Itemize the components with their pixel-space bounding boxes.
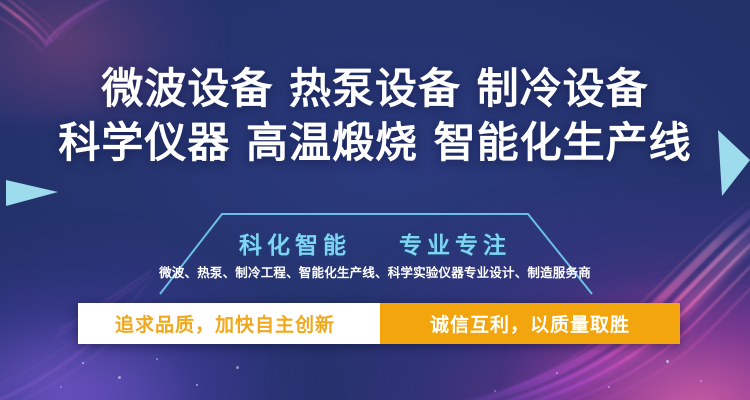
sparkle-dot xyxy=(60,386,62,388)
subtitle-block: 科化智能 专业专注 微波、热泵、制冷工程、智能化生产线、科学实验仪器专业设计、制… xyxy=(0,208,750,296)
subtitle-right: 专业专注 xyxy=(399,233,511,259)
slogan-divider xyxy=(372,303,380,344)
slogan-right: 诚信互利，以质量取胜 xyxy=(380,303,680,344)
sparkle-dot xyxy=(236,366,239,369)
sparkle-dot xyxy=(156,358,158,360)
headline: 微波设备 热泵设备 制冷设备 科学仪器 高温煅烧 智能化生产线 xyxy=(0,62,750,170)
slogan-left: 追求品质，加快自主创新 xyxy=(78,303,372,344)
left-accent-triangle xyxy=(6,180,58,206)
sparkle-dot xyxy=(556,372,558,374)
headline-line-1: 微波设备 热泵设备 制冷设备 xyxy=(0,62,750,116)
sparkle-dot xyxy=(118,376,121,379)
headline-line-2: 科学仪器 高温煅烧 智能化生产线 xyxy=(0,116,750,170)
subtitle-row: 科化智能 专业专注 xyxy=(0,226,750,260)
service-description: 微波、热泵、制冷工程、智能化生产线、科学实验仪器专业设计、制造服务商 xyxy=(0,262,750,281)
sparkle-dot xyxy=(700,380,702,382)
slogan-bar: 追求品质，加快自主创新 诚信互利，以质量取胜 xyxy=(78,303,680,344)
sparkle-dot xyxy=(82,362,84,364)
promotional-banner: 微波设备 热泵设备 制冷设备 科学仪器 高温煅烧 智能化生产线 科化智能 专业专… xyxy=(0,0,750,400)
sparkle-dot xyxy=(196,384,198,386)
sparkle-dot xyxy=(608,386,610,388)
subtitle-left: 科化智能 xyxy=(239,233,351,259)
sparkle-dot xyxy=(494,390,496,392)
sparkle-dot xyxy=(666,360,669,363)
